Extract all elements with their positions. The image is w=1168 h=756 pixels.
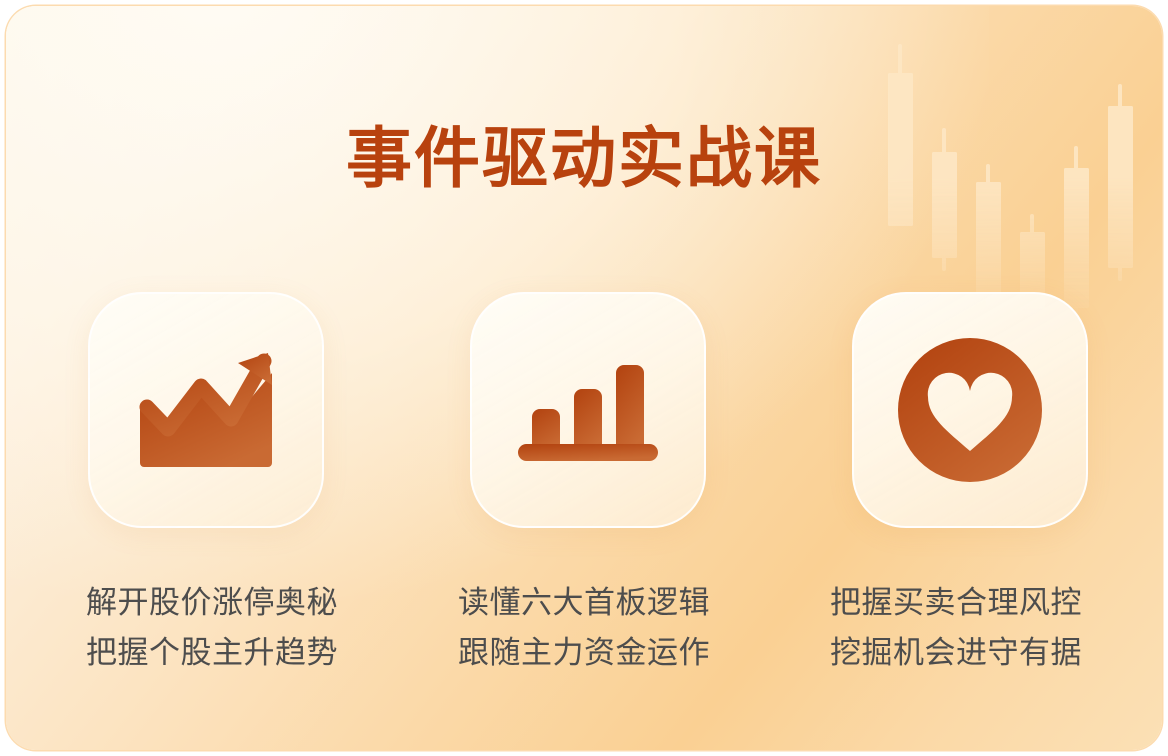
feature-cards-row (88, 292, 1088, 528)
promo-banner: 事件驱动实战课 (6, 6, 1162, 750)
caption-line: 把握买卖合理风控 (770, 578, 1142, 628)
caption-line: 读懂六大首板逻辑 (398, 578, 770, 628)
feature-caption-1: 解开股价涨停奥秘 把握个股主升趋势 (26, 578, 398, 678)
caption-line: 把握个股主升趋势 (26, 628, 398, 678)
feature-caption-2: 读懂六大首板逻辑 跟随主力资金运作 (398, 578, 770, 678)
feature-captions-row: 解开股价涨停奥秘 把握个股主升趋势 读懂六大首板逻辑 跟随主力资金运作 把握买卖… (26, 578, 1142, 678)
caption-line: 解开股价涨停奥秘 (26, 578, 398, 628)
caption-line: 挖掘机会进守有据 (770, 628, 1142, 678)
feature-card-2[interactable] (470, 292, 706, 528)
feature-card-1[interactable] (88, 292, 324, 528)
bar-chart-icon (516, 345, 660, 475)
caption-line: 跟随主力资金运作 (398, 628, 770, 678)
feature-caption-3: 把握买卖合理风控 挖掘机会进守有据 (770, 578, 1142, 678)
trending-up-chart-icon (136, 345, 276, 475)
page-title: 事件驱动实战课 (6, 124, 1162, 193)
heart-circle-icon (897, 337, 1043, 483)
feature-card-3[interactable] (852, 292, 1088, 528)
